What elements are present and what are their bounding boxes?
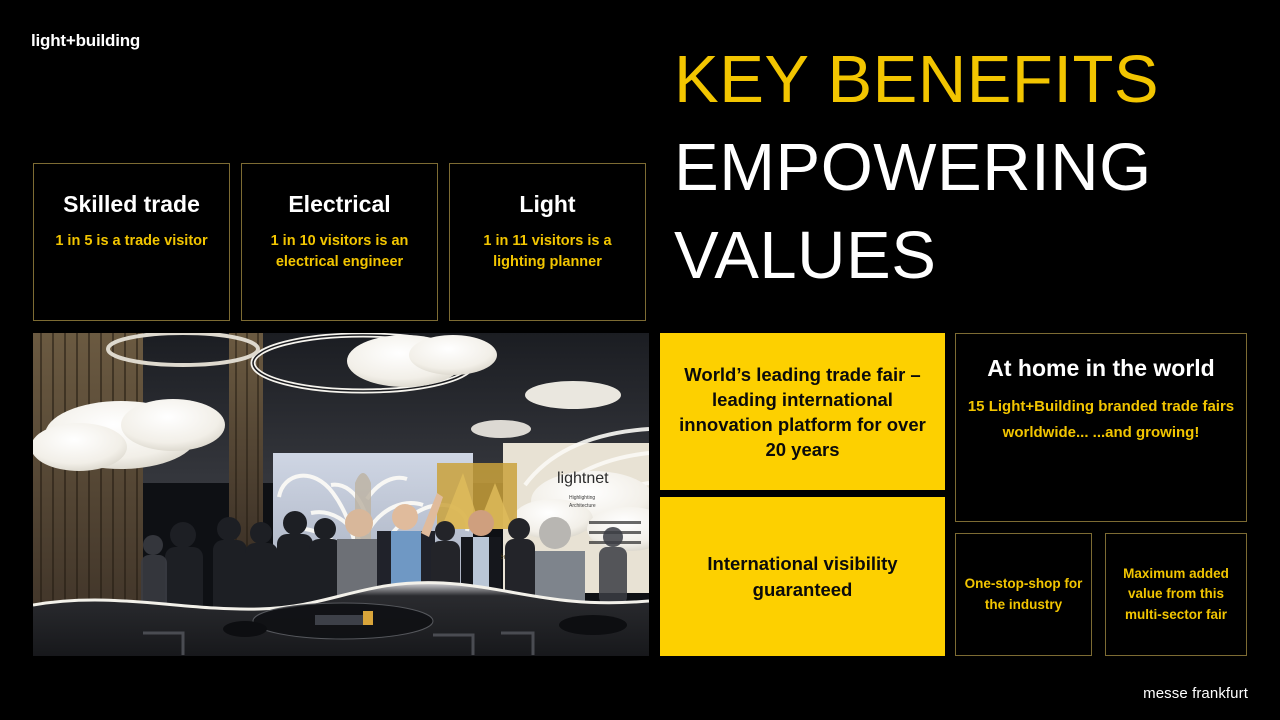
page-title: KEY BENEFITS EMPOWERING VALUES	[674, 36, 1274, 300]
callout-text: World’s leading trade fair – leading int…	[660, 362, 945, 462]
photo-illustration: Matric Opcluz Déco lightnet Highlighting…	[33, 333, 649, 656]
callout-worlds-leading-trade-fair: World’s leading trade fair – leading int…	[660, 333, 945, 490]
title-line-key-benefits: KEY BENEFITS	[674, 36, 1274, 124]
svg-text:Highlighting: Highlighting	[569, 495, 595, 501]
callout-one-stop-shop: One-stop-shop for the industry	[955, 533, 1092, 656]
svg-text:Architecture: Architecture	[569, 503, 596, 509]
light-building-logo: light+building	[31, 31, 140, 51]
messe-frankfurt-logo: messe frankfurt	[1143, 685, 1248, 702]
stat-card-light: Light 1 in 11 visitors is a lighting pla…	[449, 163, 646, 321]
stat-card-title: Light	[519, 190, 575, 218]
slide-root: light+building KEY BENEFITS EMPOWERING V…	[0, 0, 1280, 720]
stat-card-subtitle: 1 in 11 visitors is a lighting planner	[450, 231, 645, 273]
callout-body: 15 Light+Building branded trade fairs wo…	[956, 394, 1246, 445]
stat-card-title: Skilled trade	[63, 190, 200, 218]
title-line-empowering: EMPOWERING	[674, 124, 1274, 212]
stat-card-subtitle: 1 in 10 visitors is an electrical engine…	[242, 231, 437, 273]
callout-international-visibility: International visibility guaranteed	[660, 497, 945, 656]
stat-card-skilled-trade: Skilled trade 1 in 5 is a trade visitor	[33, 163, 230, 321]
svg-text:lightnet: lightnet	[557, 470, 609, 487]
callout-at-home-in-the-world: At home in the world 15 Light+Building b…	[955, 333, 1247, 522]
callout-heading: At home in the world	[956, 354, 1246, 382]
stat-card-subtitle: 1 in 5 is a trade visitor	[41, 231, 221, 252]
callout-text: Maximum added value from this multi-sect…	[1106, 564, 1246, 626]
callout-text: One-stop-shop for the industry	[956, 574, 1091, 615]
trade-fair-photo: Matric Opcluz Déco lightnet Highlighting…	[33, 333, 649, 656]
stat-card-electrical: Electrical 1 in 10 visitors is an electr…	[241, 163, 438, 321]
callout-maximum-added-value: Maximum added value from this multi-sect…	[1105, 533, 1247, 656]
title-line-values: VALUES	[674, 212, 1274, 300]
callout-text: International visibility guaranteed	[660, 551, 945, 603]
stat-card-title: Electrical	[288, 190, 390, 218]
